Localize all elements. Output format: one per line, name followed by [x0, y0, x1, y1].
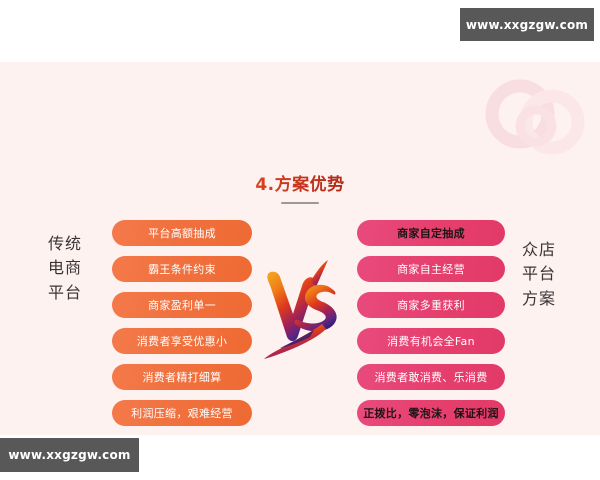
watermark-top-right: www.xxgzgw.com: [460, 8, 594, 41]
watermark-bottom-left: www.xxgzgw.com: [0, 438, 139, 472]
title-divider: [281, 202, 319, 204]
list-item[interactable]: 霸王条件约束: [112, 256, 252, 282]
left-feature-list: 平台高额抽成 霸王条件约束 商家盈利单一 消费者享受优惠小 消费者精打细算 利润…: [112, 220, 252, 426]
page-title: 4.方案优势: [255, 170, 344, 195]
list-item[interactable]: 商家自定抽成: [357, 220, 505, 246]
right-feature-list: 商家自定抽成 商家自主经营 商家多重获利 消费有机会全Fan 消费者敢消费、乐消…: [357, 220, 505, 426]
interlocking-rings-icon: [478, 74, 590, 166]
right-column-vertical-label: 众店平台方案: [522, 238, 556, 311]
left-column-vertical-label: 传统电商平台: [48, 232, 82, 305]
list-item[interactable]: 消费者享受优惠小: [112, 328, 252, 354]
list-item[interactable]: 消费者精打细算: [112, 364, 252, 390]
list-item[interactable]: 商家盈利单一: [112, 292, 252, 318]
list-item[interactable]: 商家自主经营: [357, 256, 505, 282]
slide-canvas: 4.方案优势 传统电商平台 众店平台方案 平台高额抽成 霸王条件约束 商家盈利单…: [0, 0, 600, 480]
list-item[interactable]: 商家多重获利: [357, 292, 505, 318]
slide-panel: 4.方案优势 传统电商平台 众店平台方案 平台高额抽成 霸王条件约束 商家盈利单…: [0, 62, 600, 435]
list-item[interactable]: 利润压缩，艰难经营: [112, 400, 252, 426]
list-item[interactable]: 正拨比，零泡沫，保证利润: [357, 400, 505, 426]
list-item[interactable]: 消费有机会全Fan: [357, 328, 505, 354]
list-item[interactable]: 平台高额抽成: [112, 220, 252, 246]
vs-brush-icon: [262, 258, 346, 360]
section-title-block: 4.方案优势: [0, 170, 600, 204]
list-item[interactable]: 消费者敢消费、乐消费: [357, 364, 505, 390]
